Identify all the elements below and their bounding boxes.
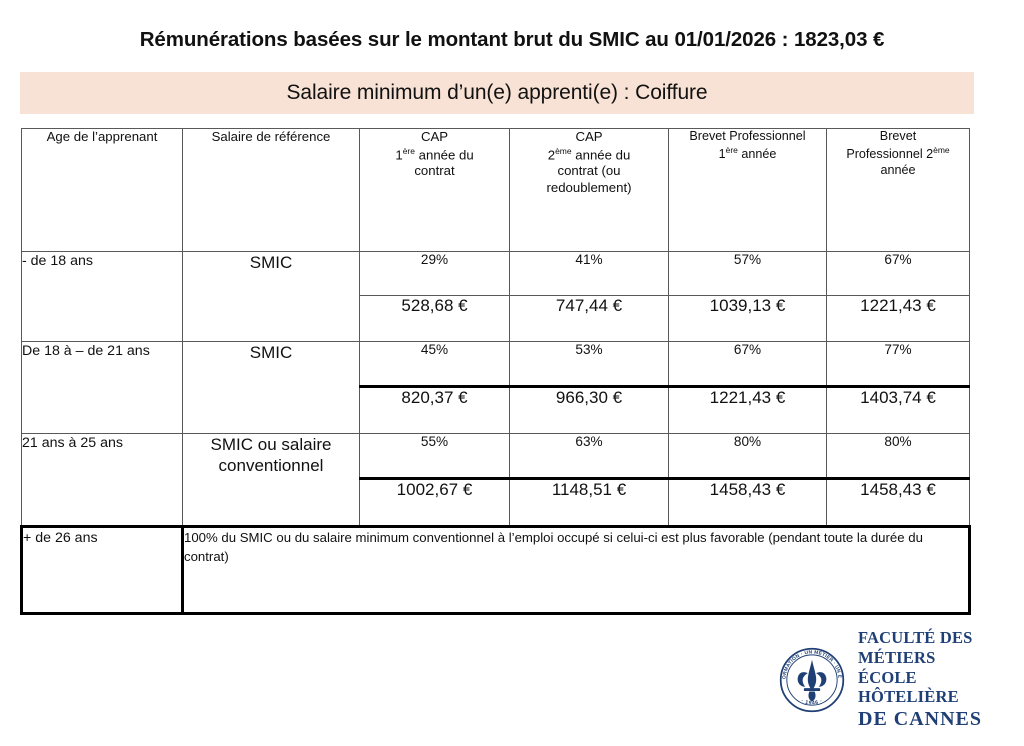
table-row: 21 ans à 25 ans SMIC ou salaire conventi…: [22, 434, 970, 479]
amount-cell: 1458,43 €: [827, 479, 970, 527]
amount-cell: 1221,43 €: [827, 296, 970, 342]
percent-cell: 57%: [669, 252, 827, 296]
reference-salary-cell: SMIC ou salaire conventionnel: [183, 434, 360, 527]
percent-cell: 29%: [360, 252, 510, 296]
header-bp2-line1: Brevet: [827, 129, 969, 145]
header-cap-year1: CAP 1ère année du contrat: [360, 129, 510, 252]
percent-cell: 53%: [510, 342, 669, 387]
header-bp2-line2: Professionnel 2ème: [827, 145, 969, 163]
age-cell: 21 ans à 25 ans: [22, 434, 183, 527]
percent-cell: 45%: [360, 342, 510, 387]
amount-cell: 966,30 €: [510, 387, 669, 434]
percent-cell: 80%: [669, 434, 827, 479]
header-cap1-ordinal-sup: ère: [403, 146, 415, 156]
header-cap1-line3: contrat: [360, 163, 509, 180]
header-cap2-line2: 2ème année du: [510, 146, 668, 164]
header-cap1-line1: CAP: [360, 129, 509, 146]
header-cap1-ordinal-num: 1: [395, 147, 402, 162]
amount-cell: 820,37 €: [360, 387, 510, 434]
logo-line-3: DE CANNES: [858, 707, 988, 732]
header-bp2-line3: année: [827, 163, 969, 179]
age-cell: De 18 à – de 21 ans: [22, 342, 183, 434]
percent-cell: 67%: [827, 252, 970, 296]
percent-cell: 63%: [510, 434, 669, 479]
institution-logo: UNE FORMATION · UN MÉTIER · UN EMPLOI · …: [778, 642, 988, 718]
header-cap2-line3: contrat (ou: [510, 163, 668, 180]
header-cap2-line4: redoublement): [510, 180, 668, 197]
header-bp1-ordinal-num: 1: [719, 147, 726, 161]
header-bp2-ordinal-sup: ème: [933, 145, 950, 155]
percent-cell: 67%: [669, 342, 827, 387]
amount-cell: 1403,74 €: [827, 387, 970, 434]
header-cap2-ordinal-sup: ème: [555, 146, 572, 156]
table-row-note: + de 26 ans 100% du SMIC ou du salaire m…: [22, 527, 970, 614]
reference-salary-cell: SMIC: [183, 252, 360, 342]
amount-cell: 528,68 €: [360, 296, 510, 342]
amount-cell: 1039,13 €: [669, 296, 827, 342]
header-bp1-line1: Brevet Professionnel: [669, 129, 826, 145]
percent-cell: 80%: [827, 434, 970, 479]
header-bp1-ordinal-post: année: [738, 147, 777, 161]
header-cap1-ordinal-post: année du: [415, 147, 474, 162]
subtitle-banner: Salaire minimum d’un(e) apprenti(e) : Co…: [20, 72, 974, 114]
header-bp-year2: Brevet Professionnel 2ème année: [827, 129, 970, 252]
header-age-label: Age de l’apprenant: [47, 129, 158, 144]
header-reference-salary: Salaire de référence: [183, 129, 360, 252]
table-row: - de 18 ans SMIC 29% 41% 57% 67%: [22, 252, 970, 296]
header-cap-year2: CAP 2ème année du contrat (ou redoubleme…: [510, 129, 669, 252]
header-cap2-line1: CAP: [510, 129, 668, 146]
amount-cell: 1148,51 €: [510, 479, 669, 527]
page-title: Rémunérations basées sur le montant brut…: [0, 28, 1024, 52]
subtitle-text: Salaire minimum d’un(e) apprenti(e) : Co…: [286, 81, 707, 105]
header-bp1-ordinal-sup: ère: [726, 145, 738, 155]
header-cap1-line2: 1ère année du: [360, 146, 509, 164]
reference-salary-cell: SMIC: [183, 342, 360, 434]
fleur-de-lis-seal-icon: UNE FORMATION · UN MÉTIER · UN EMPLOI · …: [778, 646, 846, 714]
header-cap2-ordinal-num: 2: [548, 147, 555, 162]
header-age: Age de l’apprenant: [22, 129, 183, 252]
logo-wordmark: FACULTÉ DES MÉTIERS ÉCOLE HÔTELIÈRE DE C…: [858, 628, 988, 732]
percent-cell: 77%: [827, 342, 970, 387]
amount-cell: 1002,67 €: [360, 479, 510, 527]
age-cell: - de 18 ans: [22, 252, 183, 342]
table-header-row: Age de l’apprenant Salaire de référence …: [22, 129, 970, 252]
amount-cell: 747,44 €: [510, 296, 669, 342]
age-cell: + de 26 ans: [22, 527, 183, 614]
header-reference-label: Salaire de référence: [212, 129, 331, 144]
amount-cell: 1221,43 €: [669, 387, 827, 434]
table-row: De 18 à – de 21 ans SMIC 45% 53% 67% 77%: [22, 342, 970, 387]
header-cap2-ordinal-post: année du: [572, 147, 631, 162]
note-cell: 100% du SMIC ou du salaire minimum conve…: [183, 527, 970, 614]
percent-cell: 55%: [360, 434, 510, 479]
apprentice-wage-table: Age de l’apprenant Salaire de référence …: [20, 128, 971, 615]
logo-line-2: ÉCOLE HÔTELIÈRE: [858, 668, 988, 708]
header-bp1-line2: 1ère année: [669, 145, 826, 163]
amount-cell: 1458,43 €: [669, 479, 827, 527]
header-bp-year1: Brevet Professionnel 1ère année: [669, 129, 827, 252]
header-bp2-ordinal-pre: Professionnel 2: [846, 147, 933, 161]
percent-cell: 41%: [510, 252, 669, 296]
logo-line-1: FACULTÉ DES MÉTIERS: [858, 628, 988, 668]
